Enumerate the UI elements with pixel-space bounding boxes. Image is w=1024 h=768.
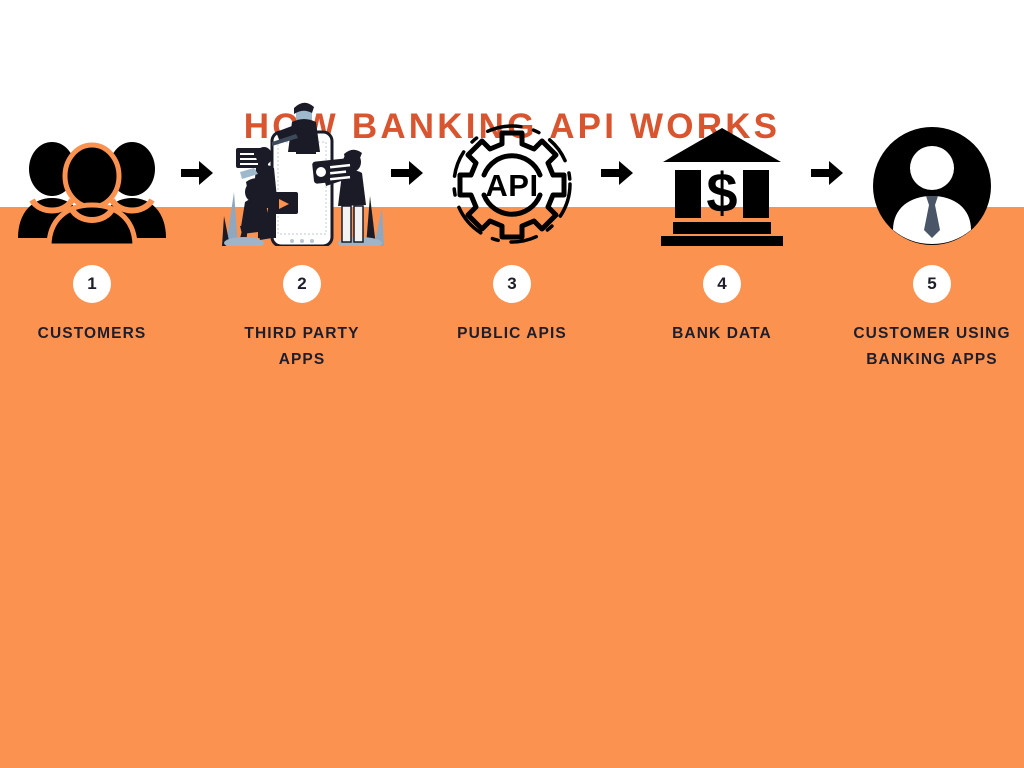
flow-step-3: API 3 PUBLIC APIS [429,100,595,347]
process-flow: 1 CUSTOMERS [0,100,1024,373]
flow-arrow-4 [805,100,849,246]
step-5-number-badge: 5 [913,265,951,303]
step-5-artwork [849,100,1015,246]
arrow-right-icon [180,158,214,188]
flow-step-2: 2 THIRD PARTY APPS [219,100,385,373]
step-4-artwork: $ [639,100,805,246]
api-gear-icon: API [450,122,574,246]
user-avatar-circle-icon [872,126,992,246]
step-2-number-badge: 2 [283,265,321,303]
svg-text:$: $ [706,161,737,224]
infographic-page: HOW BANKING API WORKS [0,0,1024,768]
flow-arrow-3 [595,100,639,246]
flow-arrow-1 [175,100,219,246]
flow-step-1: 1 CUSTOMERS [9,100,175,347]
step-1-label: CUSTOMERS [12,321,172,347]
step-3-number-badge: 3 [493,265,531,303]
step-1-number-badge: 1 [73,265,111,303]
step-3-artwork: API [429,100,595,246]
step-2-label: THIRD PARTY APPS [222,321,382,373]
step-3-label: PUBLIC APIS [432,321,592,347]
flow-arrow-2 [385,100,429,246]
arrow-right-icon [390,158,424,188]
api-gear-label: API [485,168,538,203]
dollar-sign: $ [706,161,737,224]
flow-step-4: $ 4 BANK DATA [639,100,805,347]
arrow-right-icon [810,158,844,188]
flow-step-5: 5 CUSTOMER USING BANKING APPS [849,100,1015,373]
group-of-people-icon [16,134,168,246]
step-4-label: BANK DATA [642,321,802,347]
people-with-smartphone-app-illustration [220,100,384,246]
arrow-right-icon [600,158,634,188]
bank-building-dollar-icon: $ [661,126,783,246]
step-1-artwork [9,100,175,246]
step-4-number-badge: 4 [703,265,741,303]
step-2-artwork [219,100,385,246]
step-5-label: CUSTOMER USING BANKING APPS [852,321,1012,373]
